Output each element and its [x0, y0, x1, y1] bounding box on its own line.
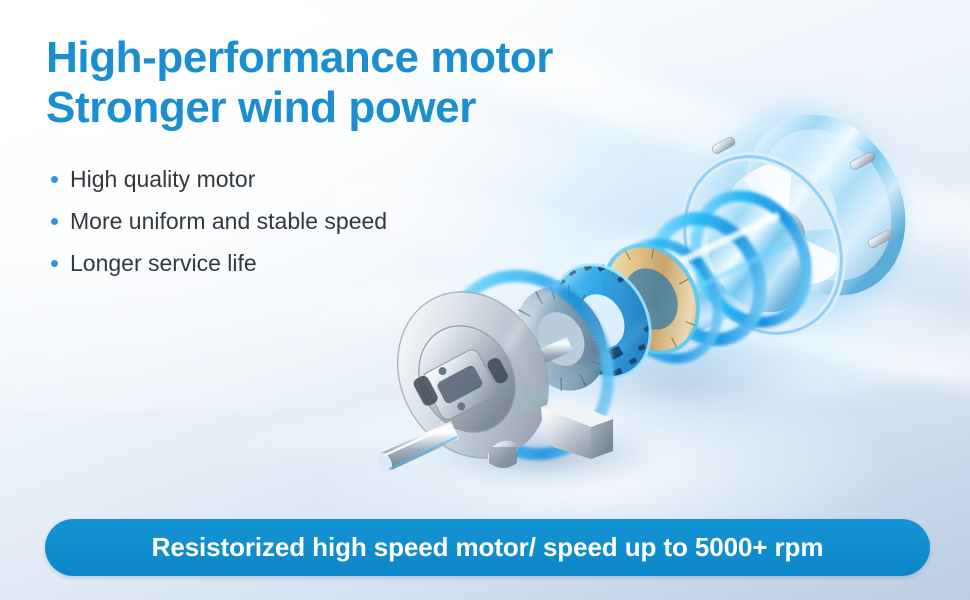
- list-item: More uniform and stable speed: [48, 200, 518, 242]
- spec-banner-text: Resistorized high speed motor/ speed up …: [152, 532, 824, 563]
- list-item: Longer service life: [48, 242, 518, 284]
- feature-label: High quality motor: [70, 166, 255, 192]
- product-banner: High-performance motor Stronger wind pow…: [0, 0, 970, 600]
- feature-label: Longer service life: [70, 250, 257, 276]
- bullet-dot-icon: [51, 260, 58, 267]
- feature-label: More uniform and stable speed: [70, 208, 387, 234]
- list-item: High quality motor: [48, 158, 518, 200]
- bullet-dot-icon: [51, 176, 58, 183]
- bullet-dot-icon: [51, 218, 58, 225]
- spec-banner: Resistorized high speed motor/ speed up …: [45, 519, 930, 576]
- feature-list: High quality motor More uniform and stab…: [48, 158, 518, 284]
- page-title: High-performance motor Stronger wind pow…: [46, 33, 666, 133]
